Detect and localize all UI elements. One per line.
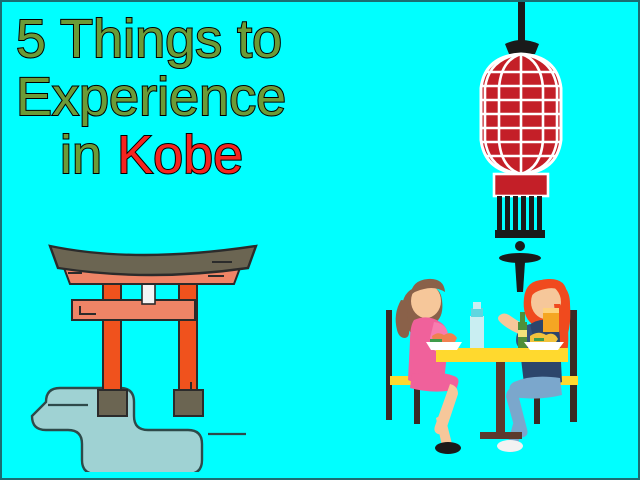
- left-ponytail: [396, 300, 410, 338]
- right-shoe: [497, 440, 523, 452]
- table-top: [436, 348, 568, 362]
- torii-base-right: [174, 390, 203, 416]
- title-line-3: in Kobe: [2, 126, 402, 184]
- torii-base-left: [98, 390, 127, 416]
- lantern-base-band: [494, 174, 548, 196]
- lantern-body: [481, 54, 561, 174]
- poster-title: 5 Things to Experience in Kobe: [2, 2, 402, 184]
- lantern-illustration: [457, 2, 587, 292]
- poster-canvas: 5 Things to Experience in Kobe: [0, 0, 640, 480]
- table-pedestal: [496, 362, 505, 432]
- person-left: [396, 279, 462, 454]
- title-line-1: 5 Things to: [2, 10, 402, 68]
- water-bottle: [470, 302, 484, 348]
- torii-roof: [50, 246, 256, 275]
- lantern-cap: [505, 40, 539, 54]
- title-line-2: Experience: [2, 68, 402, 126]
- dining-scene-illustration: [374, 274, 626, 464]
- left-shoe: [435, 442, 461, 454]
- torii-gate-illustration: [30, 242, 282, 472]
- title-line-3-prefix: in: [60, 125, 117, 185]
- person-right: [497, 279, 570, 452]
- drink-glass: [543, 308, 559, 332]
- title-line-3-highlight: Kobe: [117, 125, 243, 185]
- lantern-cord: [518, 2, 525, 44]
- table-foot: [480, 432, 522, 439]
- torii-lower-beam: [72, 300, 195, 320]
- torii-plaque: [142, 282, 155, 304]
- lantern-fringe: [495, 196, 545, 238]
